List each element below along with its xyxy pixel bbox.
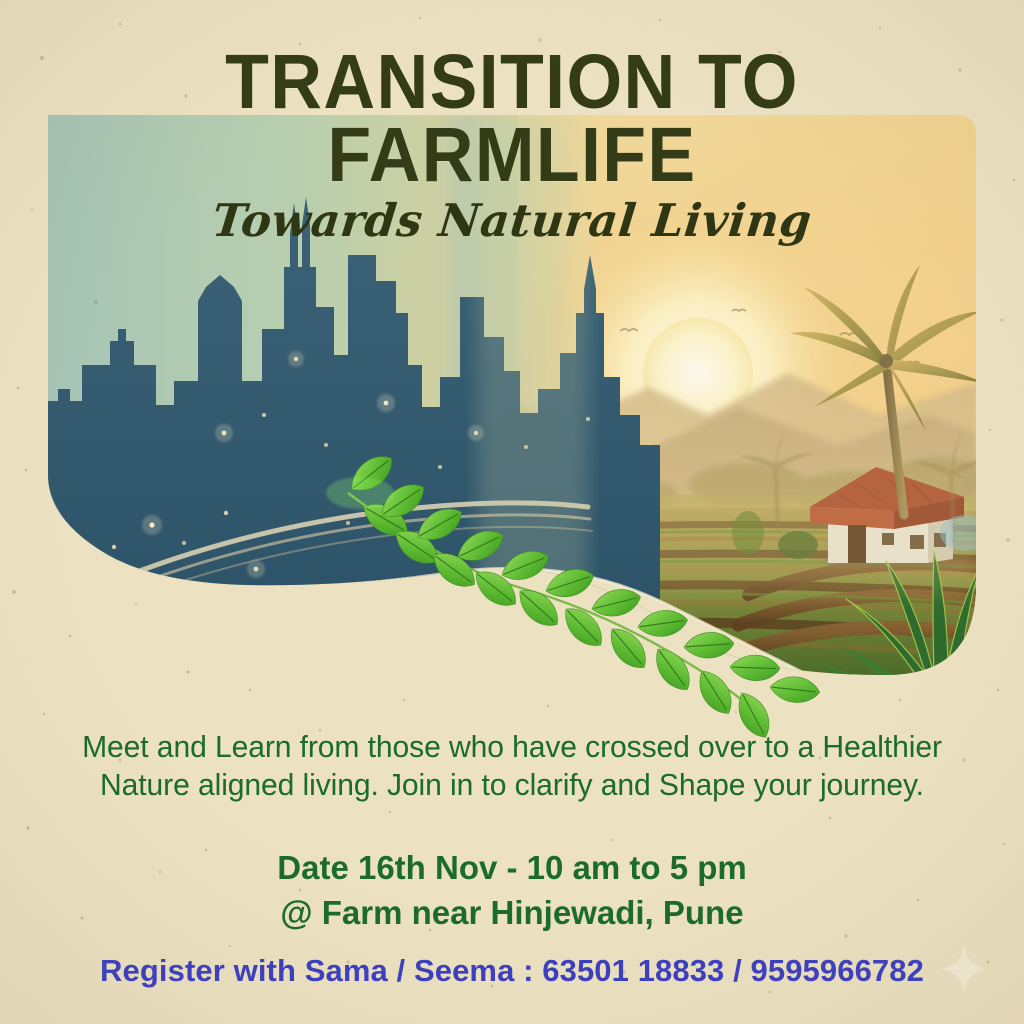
registration-contact[interactable]: Register with Sama / Seema : 63501 18833… xyxy=(0,952,1024,990)
registration-block: Register with Sama / Seema : 63501 18833… xyxy=(0,952,1024,990)
event-venue: @ Farm near Hinjewadi, Pune xyxy=(0,890,1024,935)
page-subtitle: Towards Natural Living xyxy=(0,198,1024,243)
vine-stem xyxy=(348,493,760,715)
title-block: TRANSITION TO FARMLIFE Towards Natural L… xyxy=(0,46,1024,243)
vine-leaves xyxy=(344,448,821,743)
page-title: TRANSITION TO FARMLIFE xyxy=(36,46,988,192)
description-line-1: Meet and Learn from those who have cross… xyxy=(15,728,1008,766)
description-block: Meet and Learn from those who have cross… xyxy=(0,728,1024,804)
description-line-2: Nature aligned living. Join in to clarif… xyxy=(15,766,1008,804)
event-date-time: Date 16th Nov - 10 am to 5 pm xyxy=(0,845,1024,890)
poster-canvas: TRANSITION TO FARMLIFE Towards Natural L… xyxy=(0,0,1024,1024)
event-details-block: Date 16th Nov - 10 am to 5 pm @ Farm nea… xyxy=(0,845,1024,935)
sparkle-icon xyxy=(941,943,987,995)
